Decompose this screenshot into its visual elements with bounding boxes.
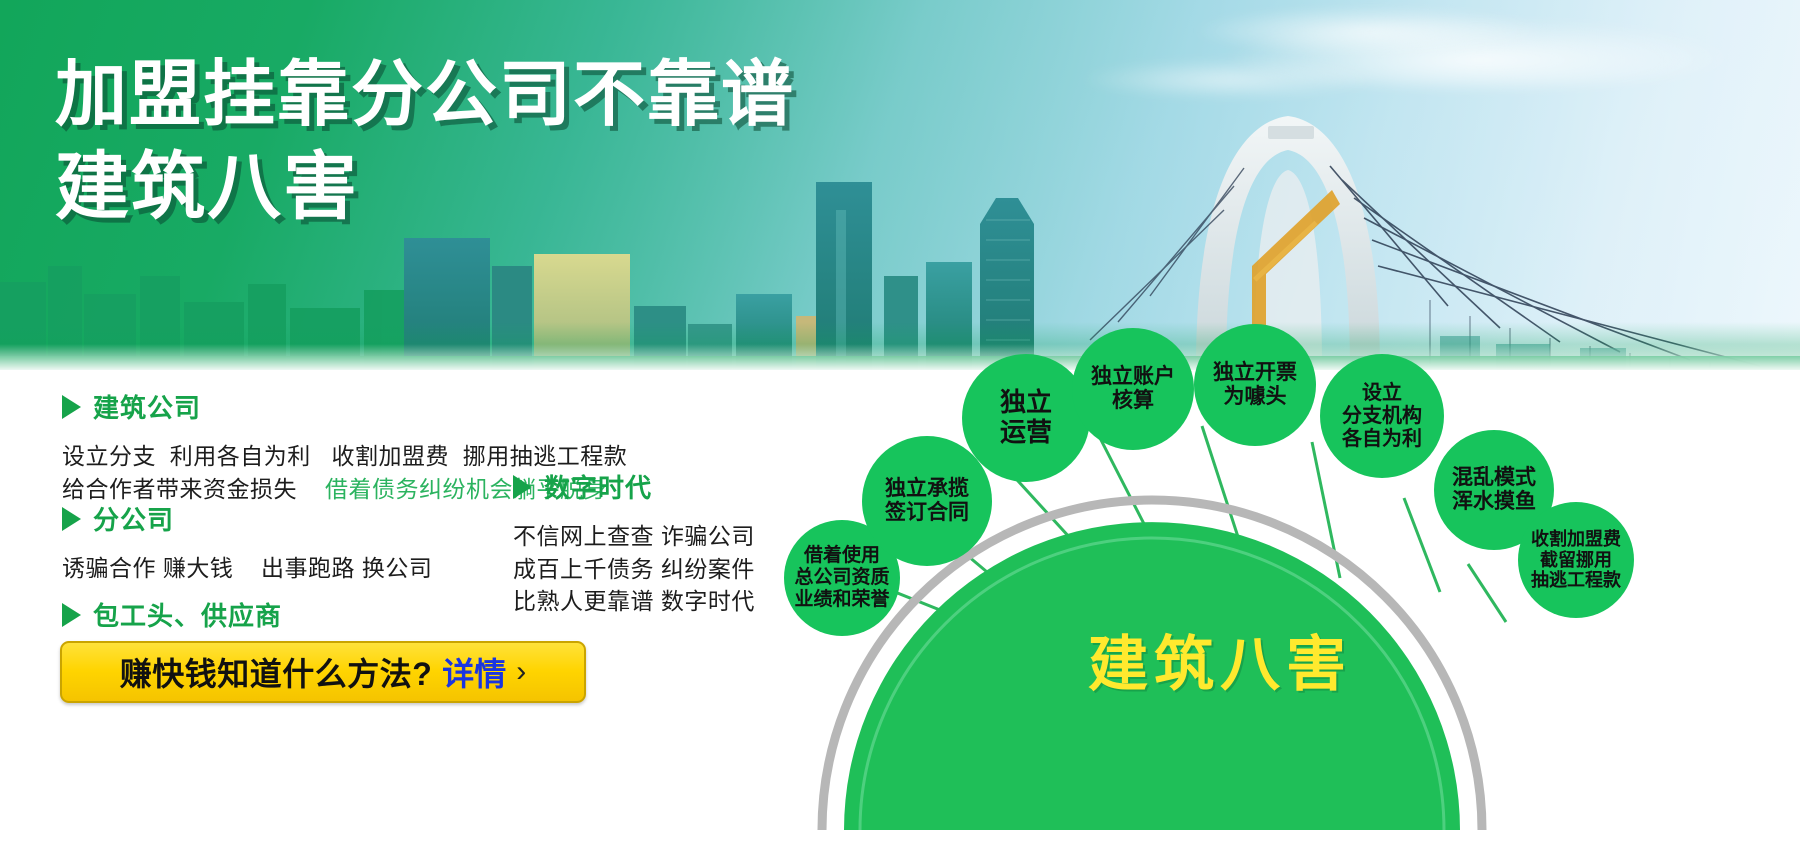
triangle-bullet-icon <box>62 507 81 531</box>
cta-main-label: 赚快钱知道什么方法? <box>120 649 433 695</box>
section-header: 建筑公司 <box>62 388 627 425</box>
bubble-label: 借着使用 总公司资质 业绩和荣誉 <box>794 545 889 611</box>
bubble-set-up-branches[interactable]: 设立 分支机构 各自为利 <box>1320 354 1444 478</box>
bubble-independent-contracting[interactable]: 独立承揽 签订合同 <box>862 436 992 566</box>
bubble-independent-account[interactable]: 独立账户 核算 <box>1072 328 1194 450</box>
cloud-icon <box>1190 6 1550 52</box>
section-title: 包工头、供应商 <box>93 596 282 633</box>
dome-center-label: 建筑八害 <box>975 616 1465 703</box>
bubble-label: 收割加盟费 截留挪用 抽逃工程款 <box>1531 529 1621 591</box>
bubble-label: 独立 运营 <box>1000 388 1052 448</box>
cta-link-label[interactable]: 详情 <box>442 649 506 695</box>
section-header: 分公司 <box>62 500 432 537</box>
eight-harms-diagram: 借着使用 总公司资质 业绩和荣誉 独立承揽 签订合同 独立 运营 独立账户 核算 <box>800 330 1800 844</box>
bubble-label: 混乱模式 浑水摸鱼 <box>1452 466 1536 514</box>
section-title: 建筑公司 <box>93 388 201 425</box>
section-body-line: 不信网上查查 诈骗公司 <box>513 520 813 553</box>
cta-button[interactable]: 赚快钱知道什么方法? 详情 › <box>60 641 586 703</box>
body-text: 给合作者带来资金损失 <box>62 476 297 502</box>
left-content-panel: 建筑公司 设立分支 利用各自为利 收割加盟费 挪用抽逃工程款 给合作者带来资金损… <box>0 372 820 844</box>
hero-title-group: 加盟挂靠分公司不靠谱 建筑八害 <box>55 58 795 226</box>
section-body-line: 成百上千债务 纠纷案件 <box>513 553 813 586</box>
section-body-line: 比熟人更靠谱 数字时代 <box>513 585 813 618</box>
triangle-bullet-icon <box>513 475 532 499</box>
bubble-label: 设立 分支机构 各自为利 <box>1342 382 1422 451</box>
section-header: 包工头、供应商 <box>62 596 442 633</box>
bubble-independent-operation[interactable]: 独立 运营 <box>962 354 1090 482</box>
chevron-right-icon: › <box>516 657 526 687</box>
hero-banner: 加盟挂靠分公司不靠谱 建筑八害 <box>0 0 1800 370</box>
section-branch-company: 分公司 诱骗合作 赚大钱 出事跑路 换公司 <box>0 500 432 585</box>
bubble-label: 独立承揽 签订合同 <box>885 477 969 525</box>
bubble-label: 独立开票 为噱头 <box>1213 361 1297 409</box>
hero-title-line1: 加盟挂靠分公司不靠谱 <box>55 58 795 133</box>
section-digital-era: 数字时代 不信网上查查 诈骗公司 成百上千债务 纠纷案件 比熟人更靠谱 数字时代 <box>513 468 813 618</box>
section-title: 分公司 <box>93 500 174 537</box>
bubble-independent-invoice[interactable]: 独立开票 为噱头 <box>1194 324 1316 446</box>
section-title: 数字时代 <box>544 468 652 505</box>
bubble-label: 独立账户 核算 <box>1091 365 1175 413</box>
triangle-bullet-icon <box>62 395 81 419</box>
bubble-harvest-franchise-fee[interactable]: 收割加盟费 截留挪用 抽逃工程款 <box>1518 502 1634 618</box>
triangle-bullet-icon <box>62 603 81 627</box>
section-header: 数字时代 <box>513 468 813 505</box>
section-body-line: 诱骗合作 赚大钱 出事跑路 换公司 <box>62 552 432 585</box>
hero-title-line2: 建筑八害 <box>55 149 795 226</box>
poster-root: 加盟挂靠分公司不靠谱 建筑八害 建筑公司 设立分支 利用各自为利 收割加盟费 挪… <box>0 0 1800 844</box>
